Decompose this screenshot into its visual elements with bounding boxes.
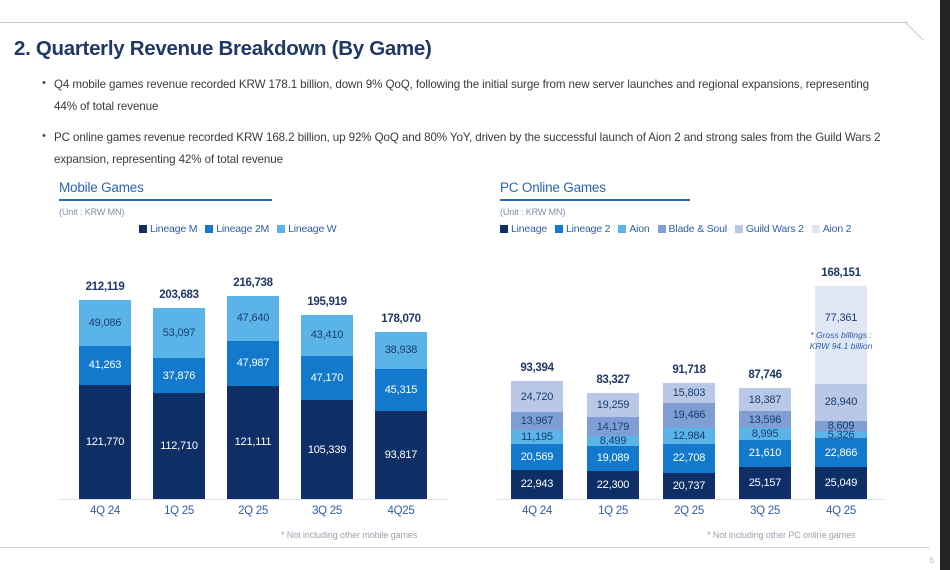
stacked-bar[interactable]: 24,72013,96711,19520,56922,943	[511, 381, 563, 499]
pc-legend-item-2[interactable]: Aion	[618, 223, 649, 235]
gross-billings-annotation: * Gross billings :KRW 94.1 billion	[810, 330, 873, 352]
pc-legend-item-3[interactable]: Blade & Soul	[658, 223, 727, 235]
right-edge-band	[940, 0, 950, 570]
bar-segment-guild-wars-2[interactable]: 18,387	[739, 388, 791, 411]
segment-value-label: 22,708	[673, 452, 705, 464]
x-axis-category-label: 4Q25	[388, 505, 415, 517]
x-axis-category-label: 1Q 25	[598, 505, 628, 517]
mobile-chart-legend: Lineage MLineage 2MLineage W	[59, 223, 489, 235]
bar-segment-lineage-w[interactable]: 38,938	[375, 332, 427, 369]
bar-segment-aion[interactable]: 12,984	[663, 428, 715, 444]
segment-value-label: 121,770	[86, 436, 124, 448]
pc-games-stacked-bar-chart: 93,39424,72013,96711,19520,56922,9434Q 2…	[497, 255, 897, 500]
page-number: 6	[930, 556, 934, 565]
segment-value-label: 121,111	[235, 436, 272, 448]
segment-value-label: 49,086	[89, 317, 121, 329]
bar-total-label: 216,738	[233, 277, 272, 289]
bar-segment-lineage[interactable]: 25,157	[739, 467, 791, 499]
header-divider	[0, 22, 908, 23]
segment-value-label: 47,987	[237, 357, 269, 369]
x-axis-category-label: 4Q 25	[826, 505, 856, 517]
bar-segment-lineage-2m[interactable]: 37,876	[153, 358, 205, 394]
legend-label: Lineage M	[150, 223, 197, 235]
legend-label: Aion	[629, 223, 649, 235]
bar-group-3q25: 87,74618,38713,5968,99521,61025,1573Q 25	[739, 388, 791, 499]
segment-value-label: 22,943	[521, 478, 553, 490]
mobile-panel-unit: (Unit : KRW MN)	[59, 207, 489, 217]
bar-segment-lineage-2[interactable]: 22,708	[663, 444, 715, 473]
bar-total-label: 168,151	[821, 267, 860, 279]
segment-value-label: 47,170	[311, 372, 343, 384]
bar-segment-lineage-w[interactable]: 53,097	[153, 308, 205, 358]
legend-label: Lineage	[511, 223, 547, 235]
x-axis-category-label: 4Q 24	[522, 505, 552, 517]
bar-segment-lineage-w[interactable]: 47,640	[227, 296, 279, 341]
segment-value-label: 13,967	[521, 415, 553, 427]
segment-value-label: 24,720	[521, 391, 553, 403]
segment-value-label: 21,610	[749, 447, 781, 459]
bar-group-1q25: 203,68353,09737,876112,7101Q 25	[153, 308, 205, 499]
stacked-bar[interactable]: 19,25914,1798,49919,08922,300	[587, 393, 639, 499]
segment-value-label: 20,737	[673, 480, 705, 492]
bar-group-4q25: 168,15177,361* Gross billings :KRW 94.1 …	[815, 286, 867, 499]
bar-group-4q24: 212,11949,08641,263121,7704Q 24	[79, 300, 131, 499]
bar-segment-blade-soul[interactable]: 13,596	[739, 411, 791, 428]
segment-value-label: 19,089	[597, 452, 629, 464]
segment-value-label: 8,499	[600, 435, 627, 447]
segment-value-label: 93,817	[385, 449, 417, 461]
legend-swatch-icon	[658, 225, 666, 233]
bullet-list: • Q4 mobile games revenue recorded KRW 1…	[40, 74, 900, 180]
legend-label: Lineage 2	[566, 223, 610, 235]
mobile-games-stacked-bar-chart: 212,11949,08641,263121,7704Q 24203,68353…	[59, 255, 479, 500]
legend-swatch-icon	[812, 225, 820, 233]
bar-segment-lineage-m[interactable]: 93,817	[375, 411, 427, 499]
pc-legend-item-0[interactable]: Lineage	[500, 223, 547, 235]
segment-value-label: 18,387	[749, 394, 781, 406]
corner-diagonal-decoration	[905, 22, 925, 42]
bar-segment-lineage-m[interactable]: 112,710	[153, 393, 205, 499]
bar-segment-guild-wars-2[interactable]: 28,940	[815, 384, 867, 421]
bar-segment-lineage[interactable]: 25,049	[815, 467, 867, 499]
stacked-bar[interactable]: 53,09737,876112,710	[153, 308, 205, 499]
legend-label: Lineage W	[288, 223, 336, 235]
legend-swatch-icon	[555, 225, 563, 233]
stacked-bar[interactable]: 49,08641,263121,770	[79, 300, 131, 499]
bar-segment-guild-wars-2[interactable]: 19,259	[587, 393, 639, 417]
bar-segment-blade-soul[interactable]: 19,486	[663, 403, 715, 428]
segment-value-label: 19,259	[597, 399, 629, 411]
segment-value-label: 47,640	[237, 312, 269, 324]
segment-value-label: 25,049	[825, 477, 857, 489]
legend-swatch-icon	[205, 225, 213, 233]
bar-total-label: 93,394	[520, 362, 553, 374]
bar-segment-lineage-2m[interactable]: 47,987	[227, 341, 279, 386]
bar-segment-lineage[interactable]: 22,943	[511, 470, 563, 499]
bar-segment-blade-soul[interactable]: 13,967	[511, 412, 563, 430]
bar-segment-aion-2[interactable]: 77,361* Gross billings :KRW 94.1 billion	[815, 286, 867, 384]
bar-group-2q25: 91,71815,80319,48612,98422,70820,7372Q 2…	[663, 383, 715, 499]
bar-total-label: 203,683	[159, 289, 198, 301]
segment-value-label: 105,339	[308, 444, 346, 456]
bar-segment-lineage-w[interactable]: 49,086	[79, 300, 131, 346]
bullet-marker: •	[40, 127, 54, 171]
bar-segment-lineage-2[interactable]: 21,610	[739, 440, 791, 467]
bar-total-label: 195,919	[307, 296, 346, 308]
x-axis-category-label: 4Q 24	[90, 505, 120, 517]
bar-group-4q24: 93,39424,72013,96711,19520,56922,9434Q 2…	[511, 381, 563, 499]
legend-swatch-icon	[277, 225, 285, 233]
bar-segment-lineage[interactable]: 20,737	[663, 473, 715, 499]
bar-segment-aion[interactable]: 11,195	[511, 430, 563, 444]
bar-total-label: 91,718	[672, 364, 705, 376]
segment-value-label: 112,710	[160, 440, 198, 452]
segment-value-label: 45,315	[385, 384, 417, 396]
bar-group-3q25: 195,91943,41047,170105,3393Q 25	[301, 315, 353, 499]
bar-total-label: 87,746	[748, 369, 781, 381]
stacked-bar[interactable]: 43,41047,170105,339	[301, 315, 353, 499]
x-axis-category-label: 3Q 25	[750, 505, 780, 517]
mobile-legend-item-2[interactable]: Lineage W	[277, 223, 336, 235]
segment-value-label: 13,596	[749, 414, 781, 426]
segment-value-label: 19,486	[673, 409, 705, 421]
bar-segment-guild-wars-2[interactable]: 15,803	[663, 383, 715, 403]
bar-total-label: 212,119	[86, 281, 125, 293]
pc-panel-unit: (Unit : KRW MN)	[500, 207, 900, 217]
pc-panel-title: PC Online Games	[500, 180, 900, 199]
bar-segment-blade-soul[interactable]: 14,179	[587, 417, 639, 435]
legend-label: Blade & Soul	[669, 223, 727, 235]
list-item: • PC online games revenue recorded KRW 1…	[40, 127, 900, 171]
stacked-bar[interactable]: 38,93845,31593,817	[375, 332, 427, 499]
bar-group-2q25: 216,73847,64047,987121,1112Q 25	[227, 296, 279, 499]
legend-label: Aion 2	[823, 223, 852, 235]
bar-segment-lineage-2m[interactable]: 41,263	[79, 346, 131, 385]
bar-segment-lineage-2m[interactable]: 45,315	[375, 369, 427, 411]
legend-label: Guild Wars 2	[746, 223, 804, 235]
segment-value-label: 53,097	[163, 327, 195, 339]
segment-value-label: 41,263	[89, 359, 121, 371]
pc-legend-item-1[interactable]: Lineage 2	[555, 223, 610, 235]
segment-value-label: 37,876	[163, 370, 195, 382]
x-axis-category-label: 3Q 25	[312, 505, 342, 517]
bar-segment-lineage-m[interactable]: 121,770	[79, 385, 131, 499]
legend-swatch-icon	[500, 225, 508, 233]
bar-segment-guild-wars-2[interactable]: 24,720	[511, 381, 563, 412]
bar-segment-lineage-2m[interactable]: 47,170	[301, 356, 353, 400]
mobile-legend-item-1[interactable]: Lineage 2M	[205, 223, 269, 235]
segment-value-label: 43,410	[311, 329, 343, 341]
pc-chart-legend: LineageLineage 2AionBlade & SoulGuild Wa…	[500, 223, 900, 235]
mobile-panel-title: Mobile Games	[59, 180, 489, 199]
segment-value-label: 20,569	[521, 451, 553, 463]
segment-value-label: 25,157	[749, 477, 781, 489]
bar-total-label: 178,070	[381, 313, 420, 325]
slide-canvas: 2. Quarterly Revenue Breakdown (By Game)…	[0, 0, 950, 570]
segment-value-label: 22,300	[597, 479, 629, 491]
mobile-games-panel-header: Mobile Games (Unit : KRW MN) Lineage MLi…	[59, 180, 489, 235]
mobile-panel-underline	[59, 199, 272, 201]
segment-value-label: 28,940	[825, 396, 857, 408]
bar-segment-lineage-m[interactable]: 121,111	[227, 386, 279, 499]
stacked-bar[interactable]: 47,64047,987121,111	[227, 296, 279, 499]
x-axis-category-label: 2Q 25	[674, 505, 704, 517]
segment-value-label: 38,938	[385, 344, 417, 356]
bullet-text: Q4 mobile games revenue recorded KRW 178…	[54, 74, 884, 118]
bar-segment-lineage-2[interactable]: 19,089	[587, 446, 639, 470]
bar-segment-aion[interactable]: 5,326	[815, 432, 867, 439]
page-title: 2. Quarterly Revenue Breakdown (By Game)	[14, 37, 432, 61]
pc-games-panel-header: PC Online Games (Unit : KRW MN) LineageL…	[500, 180, 900, 235]
x-axis-category-label: 1Q 25	[164, 505, 194, 517]
mobile-legend-item-0[interactable]: Lineage M	[139, 223, 197, 235]
bar-group-4q25: 178,07038,93845,31593,8174Q25	[375, 332, 427, 499]
bar-segment-lineage-m[interactable]: 105,339	[301, 400, 353, 499]
segment-value-label: 12,984	[673, 430, 705, 442]
bar-segment-lineage-2[interactable]: 22,866	[815, 438, 867, 467]
bar-total-label: 83,327	[596, 374, 629, 386]
legend-label: Lineage 2M	[216, 223, 269, 235]
bullet-marker: •	[40, 74, 54, 118]
bar-segment-lineage-w[interactable]: 43,410	[301, 315, 353, 356]
segment-value-label: 8,995	[752, 428, 779, 440]
bar-group-1q25: 83,32719,25914,1798,49919,08922,3001Q 25	[587, 393, 639, 499]
pc-panel-underline	[500, 199, 690, 201]
bullet-text: PC online games revenue recorded KRW 168…	[54, 127, 884, 171]
pc-legend-item-4[interactable]: Guild Wars 2	[735, 223, 804, 235]
pc-legend-item-5[interactable]: Aion 2	[812, 223, 852, 235]
segment-value-label: 15,803	[673, 387, 705, 399]
list-item: • Q4 mobile games revenue recorded KRW 1…	[40, 74, 900, 118]
stacked-bar[interactable]: 15,80319,48612,98422,70820,737	[663, 383, 715, 499]
bar-segment-lineage-2[interactable]: 20,569	[511, 444, 563, 470]
chart-baseline	[497, 499, 885, 500]
x-axis-category-label: 2Q 25	[238, 505, 268, 517]
stacked-bar[interactable]: 77,361* Gross billings :KRW 94.1 billion…	[815, 286, 867, 499]
legend-swatch-icon	[618, 225, 626, 233]
segment-value-label: 11,195	[521, 431, 553, 443]
segment-value-label: 77,361	[825, 312, 857, 324]
legend-swatch-icon	[735, 225, 743, 233]
segment-value-label: 14,179	[597, 421, 629, 433]
stacked-bar[interactable]: 18,38713,5968,99521,61025,157	[739, 388, 791, 499]
chart-baseline	[59, 499, 449, 500]
legend-swatch-icon	[139, 225, 147, 233]
bar-segment-aion[interactable]: 8,995	[739, 428, 791, 439]
pc-chart-footnote: * Not including other PC online games	[707, 530, 855, 540]
mobile-chart-footnote: * Not including other mobile games	[281, 530, 417, 540]
segment-value-label: 22,866	[825, 447, 857, 459]
bar-segment-aion[interactable]: 8,499	[587, 436, 639, 447]
footer-divider	[0, 547, 930, 548]
bar-segment-lineage[interactable]: 22,300	[587, 471, 639, 499]
